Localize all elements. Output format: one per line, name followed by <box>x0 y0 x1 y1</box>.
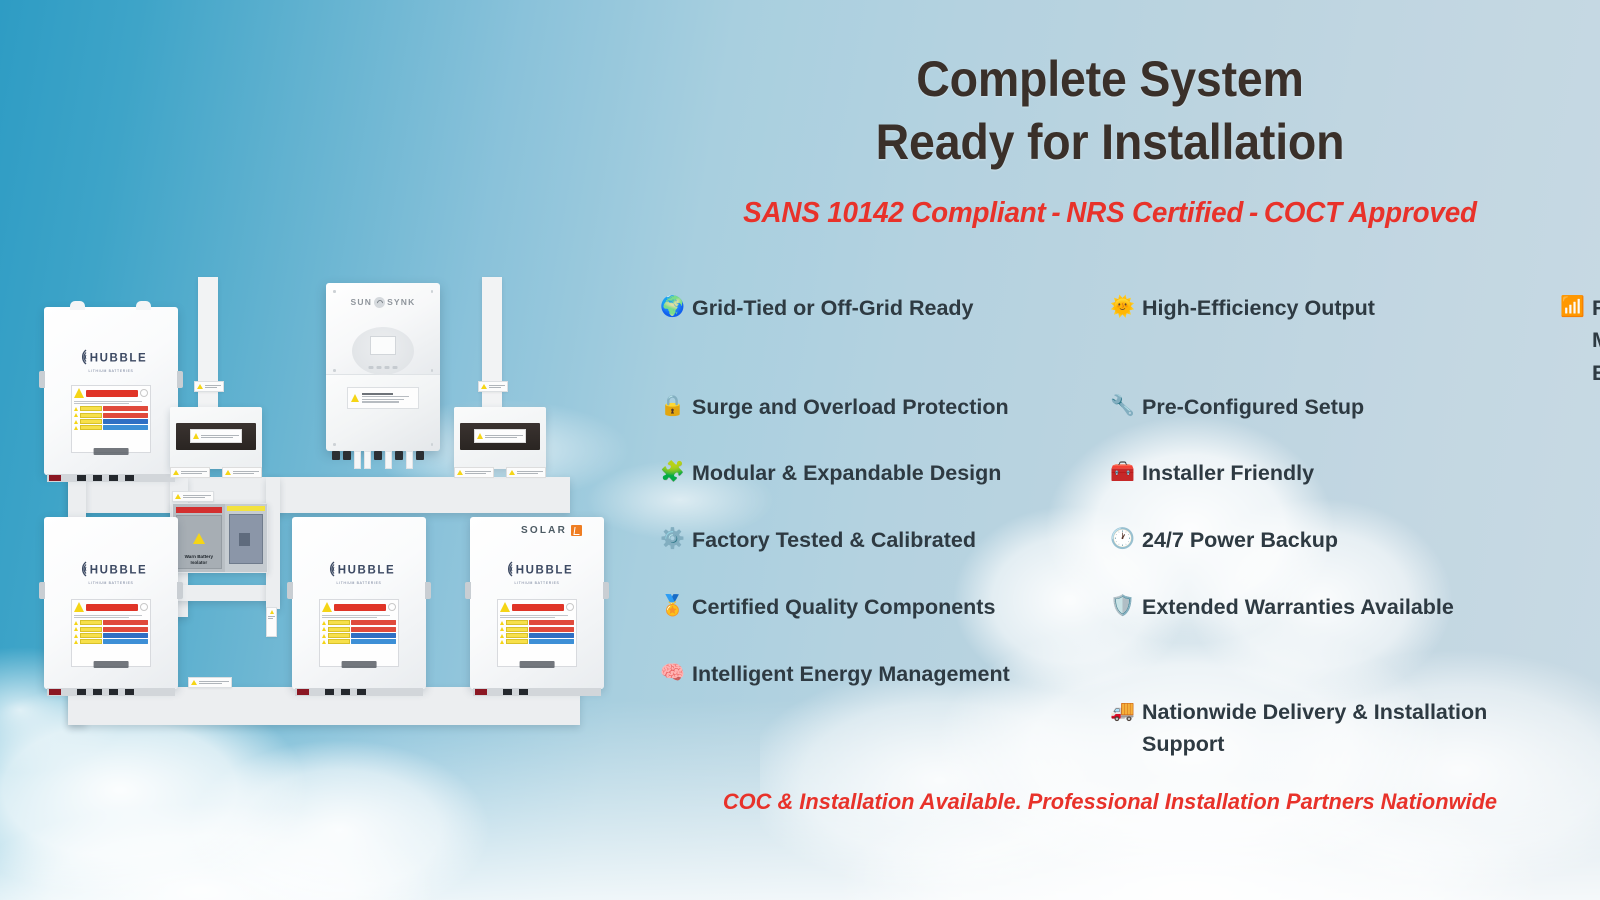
hubble-arc-icon <box>323 561 336 580</box>
inverter-cable-glands <box>332 451 424 469</box>
hubble-tagline: LITHIUM BATTERIES <box>44 369 178 373</box>
clock-icon: 🕐 <box>1110 524 1134 554</box>
feature-label: Grid-Tied or Off-Grid Ready <box>692 292 1110 324</box>
feature-item-certified-quality: 🏅 Certified Quality Components <box>660 589 1110 656</box>
sunsynk-word-sun: SUN <box>351 297 373 307</box>
warning-label-header <box>74 388 148 398</box>
feature-item-preconfigured: 🔧 Pre-Configured Setup <box>1110 389 1560 456</box>
sunsynk-badge-icon <box>374 297 385 308</box>
sun-icon: 🌞 <box>1110 292 1134 322</box>
no-entry-icon <box>566 603 574 611</box>
warning-triangle-icon <box>351 394 359 402</box>
wrench-icon: 🔧 <box>1110 391 1134 421</box>
board-warning-tag <box>188 677 232 688</box>
solar-brand-logo: SOLAR <box>521 525 582 536</box>
feature-item-installer-friendly: 🧰 Installer Friendly <box>1110 455 1560 522</box>
sunsynk-word-synk: SYNK <box>387 297 415 307</box>
certification-coct: COCT Approved <box>1264 197 1477 229</box>
inverter-buttons <box>369 366 398 370</box>
warning-row <box>74 425 148 430</box>
gear-icon: ⚙️ <box>660 524 684 554</box>
hubble-wordmark: HUBBLE <box>90 565 148 577</box>
warning-text-lines <box>74 401 148 404</box>
feature-grid: 🌍 Grid-Tied or Off-Grid Ready 🔒 Surge an… <box>660 290 1560 760</box>
isolator-label: Warn BatteryIsolator <box>185 554 213 565</box>
db-label <box>506 467 546 478</box>
feature-item-energy-management: 🧠 Intelligent Energy Management <box>660 656 1110 761</box>
battery-lugs <box>44 301 178 309</box>
feature-label: Nationwide Delivery & Installation Suppo… <box>1142 696 1560 761</box>
warning-rows <box>322 620 396 644</box>
feature-item-power-backup: 🕐 24/7 Power Backup <box>1110 522 1560 589</box>
battery-nameplate <box>342 661 377 668</box>
globe-icon: 🌍 <box>660 292 684 322</box>
hubble-battery-unit: HUBBLE LITHIUM BATTERIES <box>44 517 178 689</box>
signal-bars-icon: 📶 <box>1560 292 1584 322</box>
warning-row <box>74 620 148 625</box>
sunsynk-inverter: SUNSYNK <box>326 283 440 451</box>
feature-item-remote-monitoring: 📶 Remote Monitoring Enabled <box>1560 290 1600 389</box>
warning-red-banner <box>86 390 138 397</box>
no-entry-icon <box>388 603 396 611</box>
separator-1: - <box>1046 197 1067 229</box>
warning-text-lines <box>500 615 574 618</box>
certification-sans: SANS 10142 Compliant <box>743 197 1046 229</box>
battery-terminal-strip <box>47 688 176 696</box>
hubble-arc-icon <box>501 561 514 580</box>
feature-label: Extended Warranties Available <box>1142 591 1560 623</box>
warning-label-header <box>74 602 148 612</box>
warning-triangle-icon <box>74 602 84 612</box>
battery-terminal-strip <box>295 688 424 696</box>
inverter-display-bezel <box>352 327 414 375</box>
hubble-arc-icon <box>75 349 88 368</box>
board-warning-tag <box>266 607 277 637</box>
inverter-warning-label <box>347 387 419 409</box>
warning-red-banner <box>334 604 386 611</box>
warning-row <box>74 633 148 638</box>
installation-footnote: COC & Installation Available. Profession… <box>654 785 1566 818</box>
medal-icon: 🏅 <box>660 591 684 621</box>
feature-label: Certified Quality Components <box>692 591 1110 623</box>
hubble-tagline: LITHIUM BATTERIES <box>292 581 426 585</box>
db-label <box>222 467 262 478</box>
page-title: Complete System Ready for Installation <box>654 48 1565 174</box>
isolator-yellow-strip <box>227 506 265 511</box>
feature-label: Intelligent Energy Management <box>692 658 1110 690</box>
db-bottom-labels <box>170 467 262 478</box>
warning-text-lines <box>322 615 396 618</box>
isolator-breaker <box>229 514 263 564</box>
shield-icon: 🛡️ <box>1110 591 1134 621</box>
isolator-right-section <box>225 504 267 572</box>
hubble-logo: HUBBLE LITHIUM BATTERIES <box>470 561 604 585</box>
headline-line-1: Complete System <box>916 51 1303 107</box>
distribution-box <box>454 407 546 469</box>
warning-triangle-icon <box>74 388 84 398</box>
warning-red-banner <box>86 604 138 611</box>
battery-warning-label <box>497 599 577 667</box>
hubble-wordmark: HUBBLE <box>338 565 396 577</box>
headline-line-2: Ready for Installation <box>876 114 1345 170</box>
battery-nameplate <box>520 661 555 668</box>
warning-row <box>500 633 574 638</box>
hubble-arc-icon <box>75 561 88 580</box>
db-bottom-labels <box>454 467 546 478</box>
battery-warning-label <box>71 385 151 453</box>
hubble-battery-unit: HUBBLE LITHIUM BATTERIES <box>44 307 178 475</box>
feature-item-nationwide-delivery: 🚚 Nationwide Delivery & Installation Sup… <box>1110 694 1560 761</box>
warning-row <box>74 413 148 418</box>
warning-row <box>74 627 148 632</box>
db-label <box>454 467 494 478</box>
toolbox-icon: 🧰 <box>1110 457 1134 487</box>
warning-row <box>322 627 396 632</box>
warning-rows <box>74 406 148 430</box>
warning-triangle-icon <box>500 602 510 612</box>
battery-warning-label <box>71 599 151 667</box>
delivery-truck-icon: 🚚 <box>1110 696 1134 726</box>
db-warning-tag <box>474 429 526 443</box>
feature-label: 24/7 Power Backup <box>1142 524 1560 556</box>
feature-item-factory-tested: ⚙️ Factory Tested & Calibrated <box>660 522 1110 589</box>
battery-nameplate <box>94 448 129 455</box>
feature-label: Factory Tested & Calibrated <box>692 524 1110 556</box>
warning-text-lines <box>74 615 148 618</box>
warning-label-header <box>322 602 396 612</box>
solar-wordmark: SOLAR <box>521 525 567 536</box>
db-warning-tag <box>190 429 242 443</box>
warning-text-lines <box>362 393 415 402</box>
certification-nrs: NRS Certified <box>1066 197 1243 229</box>
feature-item-surge-protection: 🔒 Surge and Overload Protection <box>660 389 1110 456</box>
rail-warning-tag <box>478 381 508 392</box>
solar-mark-icon <box>571 525 582 536</box>
db-label <box>170 467 210 478</box>
warning-row <box>322 620 396 625</box>
lock-icon: 🔒 <box>660 391 684 421</box>
warning-triangle-icon <box>477 433 483 439</box>
backboard-panel <box>266 477 280 609</box>
warning-triangle-icon <box>322 602 332 612</box>
no-entry-icon <box>140 389 148 397</box>
feature-item-modular-design: 🧩 Modular & Expandable Design <box>660 455 1110 522</box>
feature-label: Installer Friendly <box>1142 457 1560 489</box>
backboard-panel <box>68 477 570 513</box>
hubble-tagline: LITHIUM BATTERIES <box>44 581 178 585</box>
sunsynk-logo: SUNSYNK <box>326 297 440 308</box>
isolator-red-bar <box>176 507 222 513</box>
feature-item-grid-tied: 🌍 Grid-Tied or Off-Grid Ready <box>660 290 1110 389</box>
backboard-panel <box>170 585 278 601</box>
warning-row <box>500 620 574 625</box>
feature-label: Remote Monitoring Enabled <box>1592 292 1600 389</box>
feature-label: Pre-Configured Setup <box>1142 391 1560 423</box>
warning-row <box>74 419 148 424</box>
brain-icon: 🧠 <box>660 658 684 688</box>
warning-row <box>322 639 396 644</box>
warning-triangle-icon <box>193 533 205 544</box>
hubble-tagline: LITHIUM BATTERIES <box>470 581 604 585</box>
hubble-wordmark: HUBBLE <box>90 353 148 365</box>
feature-label: Surge and Overload Protection <box>692 391 1110 423</box>
marketing-content: Complete System Ready for Installation S… <box>620 0 1600 900</box>
battery-isolator-panel: Warn BatteryIsolator <box>172 503 268 573</box>
solar-system-product-image: HUBBLE LITHIUM BATTERIES <box>30 255 610 745</box>
no-entry-icon <box>140 603 148 611</box>
warning-row <box>74 406 148 411</box>
warning-row <box>500 627 574 632</box>
feature-label: Modular & Expandable Design <box>692 457 1110 489</box>
inverter-lcd-screen <box>370 336 396 355</box>
warning-row <box>74 639 148 644</box>
puzzle-piece-icon: 🧩 <box>660 457 684 487</box>
distribution-box <box>170 407 262 469</box>
separator-2: - <box>1243 197 1264 229</box>
warning-label-header <box>500 602 574 612</box>
warning-row <box>322 633 396 638</box>
hubble-logo: HUBBLE LITHIUM BATTERIES <box>44 561 178 585</box>
feature-label: High-Efficiency Output <box>1142 292 1560 324</box>
board-warning-tag <box>172 491 214 502</box>
hubble-logo: HUBBLE LITHIUM BATTERIES <box>44 349 178 373</box>
feature-item-extended-warranties: 🛡️ Extended Warranties Available <box>1110 589 1560 656</box>
battery-terminal-strip <box>473 688 602 696</box>
warning-triangle-icon <box>193 433 199 439</box>
feature-item-high-efficiency: 🌞 High-Efficiency Output <box>1110 290 1560 389</box>
rail-warning-tag <box>194 381 224 392</box>
certification-subheading: SANS 10142 Compliant-NRS Certified-COCT … <box>640 197 1581 230</box>
hubble-logo: HUBBLE LITHIUM BATTERIES <box>292 561 426 585</box>
inverter-lower-housing <box>326 374 440 451</box>
hubble-battery-unit: HUBBLE LITHIUM BATTERIES <box>292 517 426 689</box>
warning-rows <box>500 620 574 644</box>
hubble-wordmark: HUBBLE <box>516 565 574 577</box>
warning-rows <box>74 620 148 644</box>
battery-warning-label <box>319 599 399 667</box>
battery-nameplate <box>94 661 129 668</box>
hubble-battery-unit: HUBBLE LITHIUM BATTERIES <box>470 517 604 689</box>
warning-red-banner <box>512 604 564 611</box>
warning-row <box>500 639 574 644</box>
isolator-left-section: Warn BatteryIsolator <box>173 504 225 572</box>
warning-text-lines <box>485 435 523 438</box>
battery-terminal-strip <box>47 474 176 482</box>
warning-text-lines <box>201 435 239 438</box>
